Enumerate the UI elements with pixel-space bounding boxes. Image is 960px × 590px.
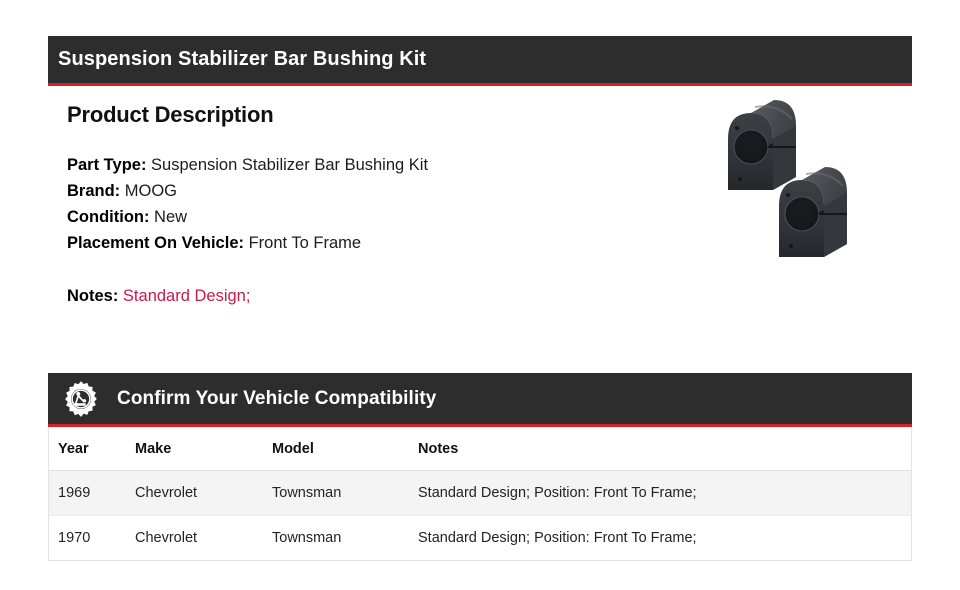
product-image	[716, 94, 906, 279]
spec-value-placement: Front To Frame	[244, 234, 361, 252]
spec-label-brand: Brand:	[67, 182, 120, 200]
cell-year: 1970	[49, 516, 135, 561]
compatibility-table: Year Make Model Notes 1969 Chevrolet Tow…	[49, 427, 911, 560]
spec-value-brand: MOOG	[120, 182, 177, 200]
spec-part-type: Part Type: Suspension Stabilizer Bar Bus…	[67, 152, 487, 178]
gear-piston-icon	[62, 380, 100, 418]
column-header-year: Year	[49, 427, 135, 471]
spec-label-condition: Condition:	[67, 208, 149, 226]
spec-list: Part Type: Suspension Stabilizer Bar Bus…	[67, 152, 487, 309]
table-header-row: Year Make Model Notes	[49, 427, 911, 471]
spec-label-placement: Placement On Vehicle:	[67, 234, 244, 252]
compatibility-title: Confirm Your Vehicle Compatibility	[117, 388, 436, 410]
compatibility-header-bar: Confirm Your Vehicle Compatibility	[48, 373, 912, 427]
product-title: Suspension Stabilizer Bar Bushing Kit	[58, 48, 426, 71]
spec-brand: Brand: MOOG	[67, 178, 487, 204]
cell-notes: Standard Design; Position: Front To Fram…	[418, 471, 911, 516]
notes-label: Notes:	[67, 287, 118, 305]
spec-condition: Condition: New	[67, 204, 487, 230]
product-description-body: Product Description Part Type: Suspensio…	[48, 86, 912, 341]
product-listing-page: Suspension Stabilizer Bar Bushing Kit Pr…	[0, 0, 960, 590]
product-header-bar: Suspension Stabilizer Bar Bushing Kit	[48, 36, 912, 86]
product-description-card: Suspension Stabilizer Bar Bushing Kit Pr…	[48, 36, 912, 341]
spec-placement: Placement On Vehicle: Front To Frame	[67, 230, 487, 256]
column-header-make: Make	[135, 427, 272, 471]
vehicle-compatibility-card: Confirm Your Vehicle Compatibility Year …	[48, 374, 912, 561]
cell-make: Chevrolet	[135, 516, 272, 561]
product-notes: Notes: Standard Design;	[67, 283, 487, 309]
cell-model: Townsman	[272, 471, 418, 516]
table-row: 1969 Chevrolet Townsman Standard Design;…	[49, 471, 911, 516]
cell-year: 1969	[49, 471, 135, 516]
cell-make: Chevrolet	[135, 471, 272, 516]
cell-model: Townsman	[272, 516, 418, 561]
column-header-notes: Notes	[418, 427, 911, 471]
spec-label-part-type: Part Type:	[67, 156, 146, 174]
column-header-model: Model	[272, 427, 418, 471]
notes-value: Standard Design;	[118, 287, 250, 305]
cell-notes: Standard Design; Position: Front To Fram…	[418, 516, 911, 561]
spec-value-condition: New	[149, 208, 187, 226]
table-row: 1970 Chevrolet Townsman Standard Design;…	[49, 516, 911, 561]
spec-value-part-type: Suspension Stabilizer Bar Bushing Kit	[146, 156, 428, 174]
